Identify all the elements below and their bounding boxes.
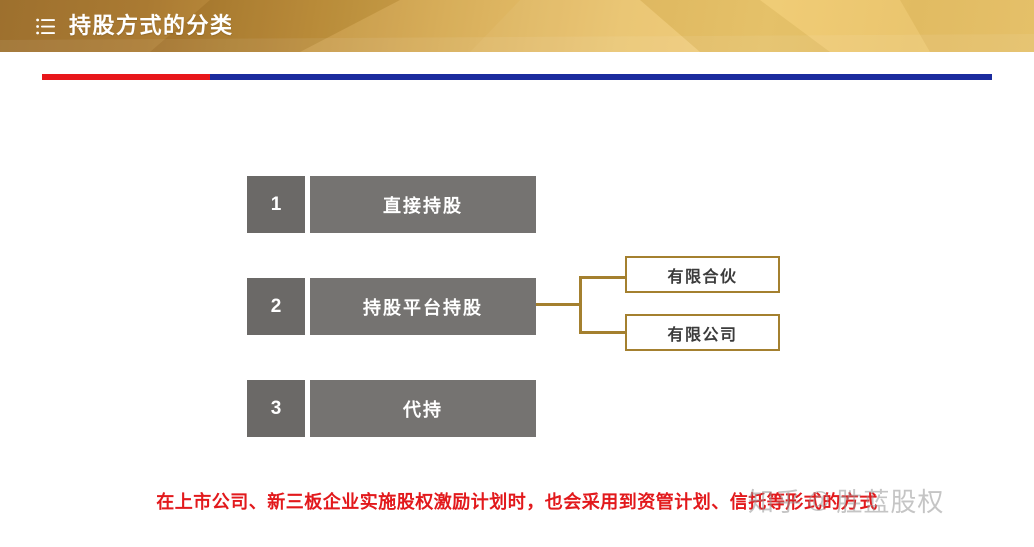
list-bullet-icon [36, 18, 56, 35]
branch-connector-bracket [536, 256, 628, 334]
branch-box-limited-company[interactable]: 有限公司 [625, 314, 780, 351]
row-number-badge: 1 [247, 176, 305, 233]
footnote-text: 在上市公司、新三板企业实施股权激励计划时，也会采用到资管计划、信托等形式的方式 [0, 488, 1034, 514]
branch-box-limited-partnership[interactable]: 有限合伙 [625, 256, 780, 293]
diagram-row: 1 直接持股 [247, 176, 536, 233]
diagram-row: 3 代持 [247, 380, 536, 437]
row-label-box[interactable]: 直接持股 [310, 176, 536, 233]
row-label-box[interactable]: 代持 [310, 380, 536, 437]
connector-arm-top [579, 276, 629, 279]
row-label-box[interactable]: 持股平台持股 [310, 278, 536, 335]
connector-vertical-line [579, 276, 582, 334]
connector-stem-line [536, 303, 582, 306]
connector-arm-bottom [579, 331, 629, 334]
page-title: 持股方式的分类 [69, 15, 234, 37]
slide-canvas: 持股方式的分类 1 直接持股 2 持股平台持股 3 代持 [0, 0, 1034, 547]
diagram-row: 2 持股平台持股 [247, 278, 536, 335]
row-number-badge: 2 [247, 278, 305, 335]
header-title-group: 持股方式的分类 [36, 0, 234, 52]
row-number-badge: 3 [247, 380, 305, 437]
flow-diagram: 1 直接持股 2 持股平台持股 3 代持 有限合伙 有限公司 [0, 0, 1034, 547]
